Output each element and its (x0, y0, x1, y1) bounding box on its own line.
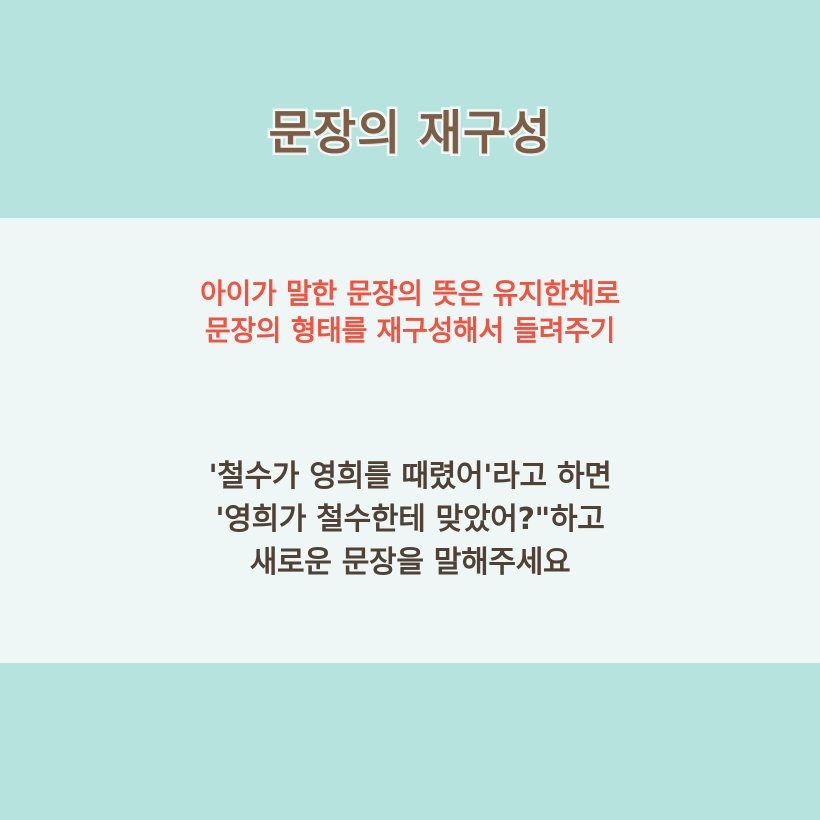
example-line-2: '영희가 철수한테 맞았어?"하고 (0, 499, 820, 542)
header-band: 문장의 재구성 (0, 0, 820, 218)
lead-text-block: 아이가 말한 문장의 뜻은 유지한채로 문장의 형태를 재구성해서 들려주기 (0, 276, 820, 350)
lead-line-2: 문장의 형태를 재구성해서 들려주기 (0, 313, 820, 350)
content-area: 아이가 말한 문장의 뜻은 유지한채로 문장의 형태를 재구성해서 들려주기 '… (0, 218, 820, 663)
slide-card: 문장의 재구성 아이가 말한 문장의 뜻은 유지한채로 문장의 형태를 재구성해… (0, 0, 820, 820)
lead-line-1: 아이가 말한 문장의 뜻은 유지한채로 (0, 276, 820, 313)
page-title: 문장의 재구성 (269, 110, 552, 157)
example-line-3: 새로운 문장을 말해주세요 (0, 542, 820, 585)
example-line-1: '철수가 영희를 때렸어'라고 하면 (0, 456, 820, 499)
footer-band (0, 663, 820, 820)
example-text-block: '철수가 영희를 때렸어'라고 하면 '영희가 철수한테 맞았어?"하고 새로운… (0, 456, 820, 585)
